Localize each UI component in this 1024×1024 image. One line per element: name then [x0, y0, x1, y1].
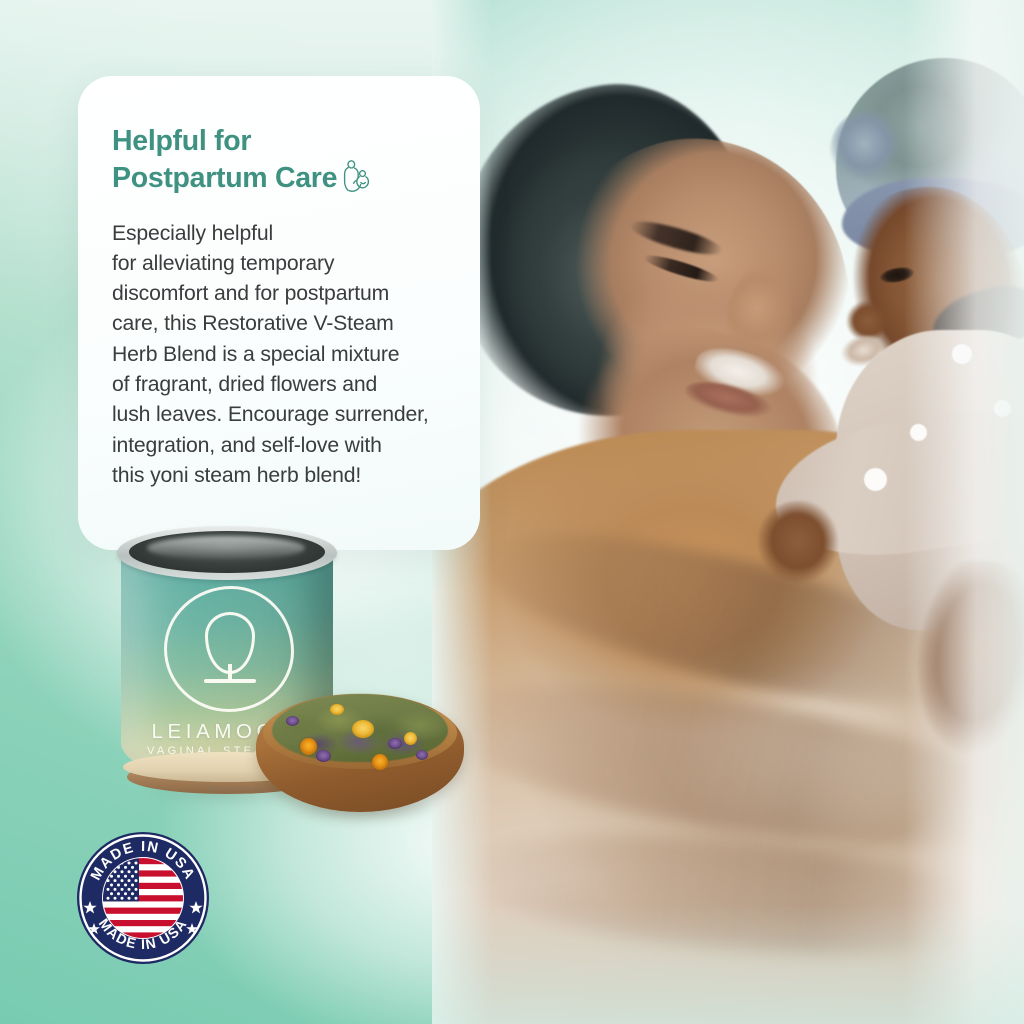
heading-line-1: Helpful for: [112, 124, 446, 159]
info-card: Helpful for Postpartum Care Especially h…: [78, 76, 480, 550]
body-line-8: integration, and self-love with: [112, 431, 446, 461]
made-in-usa-badge: MADE IN USA MADE IN USA: [76, 831, 210, 965]
logo-stem: [228, 664, 232, 680]
body-line-9: this yoni steam herb blend!: [112, 461, 446, 491]
body-line-6: of fragrant, dried flowers and: [112, 370, 446, 400]
purple-petal: [286, 716, 299, 726]
heading-line-2: Postpartum Care: [112, 162, 337, 194]
calendula-flower: [300, 738, 317, 755]
body-line-7: lush leaves. Encourage surrender,: [112, 400, 446, 430]
tin-interior-highlight: [147, 536, 305, 560]
purple-petal: [416, 750, 428, 760]
calendula-flower: [352, 720, 374, 738]
purple-petal: [316, 750, 331, 762]
calendula-flower: [372, 754, 388, 770]
card-body-copy: Especially helpful for alleviating tempo…: [112, 219, 446, 492]
body-line-5: Herb Blend is a special mixture: [112, 340, 446, 370]
purple-petal: [388, 738, 402, 749]
photo-right-wall-fade: [904, 0, 1024, 1024]
baby-turban-knot: [830, 110, 906, 190]
polka-dot: [864, 468, 887, 491]
wooden-bowl-of-dried-herbs: [256, 688, 464, 816]
logo-baseline: [204, 679, 256, 683]
mother-holding-baby-photo: [432, 0, 1024, 1024]
body-line-1: Especially helpful: [112, 219, 446, 249]
photo-bottom-fade: [432, 904, 1024, 1024]
body-line-4: care, this Restorative V-Steam: [112, 309, 446, 339]
body-line-2: for alleviating temporary: [112, 249, 446, 279]
heading-line-2-wrapper: Postpartum Care: [112, 159, 446, 202]
calendula-flower: [404, 732, 417, 745]
calendula-flower: [330, 704, 344, 715]
poster-stage: Helpful for Postpartum Care Especially h…: [0, 0, 1024, 1024]
body-line-3: discomfort and for postpartum: [112, 279, 446, 309]
mother-and-baby-icon: [343, 159, 373, 202]
card-heading: Helpful for Postpartum Care: [112, 124, 446, 202]
